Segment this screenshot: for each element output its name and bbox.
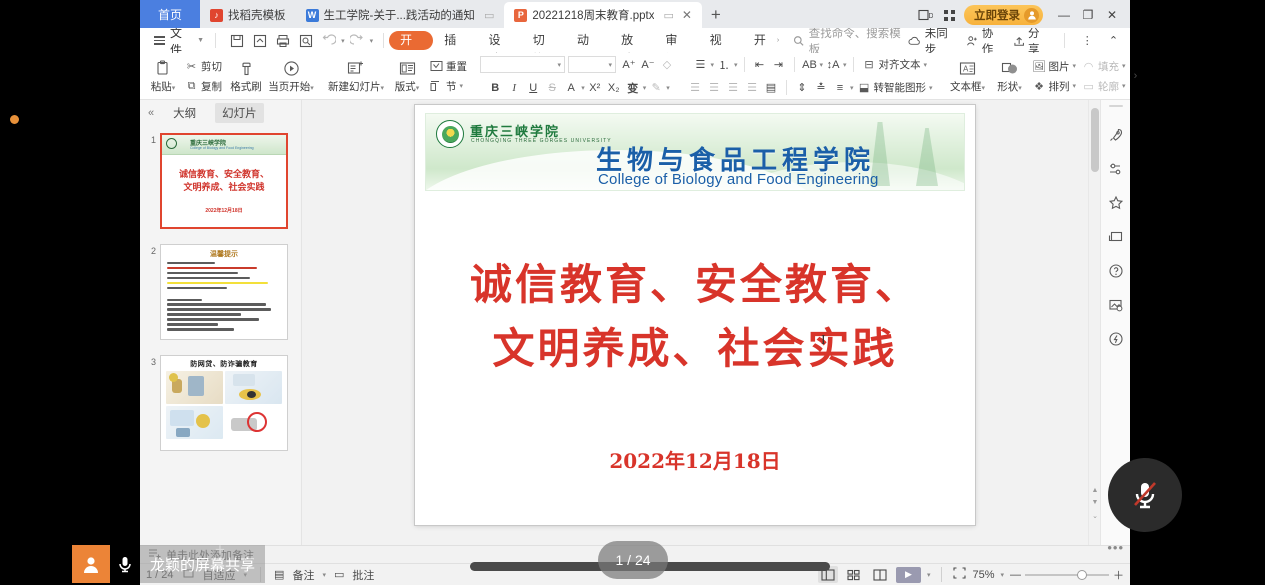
font-row-1: ▾ ▾ A⁺ A⁻ ◇ — [480, 55, 676, 74]
mic-mute-button[interactable] — [1108, 458, 1182, 532]
university-name-en: CHONGQING THREE GORGES UNIVERSITY — [471, 138, 612, 144]
zoom-in-button[interactable]: ＋ — [1113, 567, 1124, 583]
picture-label: 图片 — [1049, 59, 1070, 74]
paragraph-group: ☰ ▾ ⒈ ▾ ⇤ ⇥ AB ▾ ↕A ▾ ⊟ 对齐文本 ▾ — [686, 54, 936, 98]
chevron-down-icon[interactable]: ▾ — [820, 61, 824, 69]
ribbon-tabs: 开始 插入 设计 切换 动画 放映 审阅 视图 开 › — [389, 31, 779, 50]
svg-text:A: A — [963, 64, 969, 73]
rocket-icon[interactable] — [1106, 125, 1126, 145]
paste-icon — [155, 58, 171, 78]
outline-icon: ▭ — [1082, 80, 1095, 93]
bold-icon[interactable]: B — [486, 79, 504, 97]
textbox-icon: A — [959, 58, 976, 78]
slide-thumbnail-list[interactable]: 1 重庆三峡学院 College of Biology and Food Eng… — [140, 126, 301, 545]
tab-developer[interactable]: 开 — [743, 31, 777, 50]
justify-icon[interactable]: ☰ — [743, 79, 761, 97]
screen-share-bar[interactable]: 龙颖的屏幕共享 — [72, 545, 265, 583]
fill-label: 填充 — [1098, 59, 1119, 74]
slide-thumbnail-1[interactable]: 重庆三峡学院 College of Biology and Food Engin… — [160, 133, 288, 229]
scrollbar-thumb[interactable] — [1091, 108, 1099, 172]
slide-title-text[interactable]: 诚信教育、安全教育、 文明养成、社会实践 — [415, 253, 975, 381]
text-direction-icon[interactable]: AB — [801, 56, 819, 74]
image-tools-icon[interactable] — [1106, 295, 1126, 315]
new-tab-button[interactable]: + — [702, 2, 730, 28]
print-icon[interactable] — [272, 31, 293, 50]
cut-copy-stack: ✂ 剪切 ⧉ 复制 — [182, 54, 225, 98]
vertical-text-icon[interactable]: ↕A — [824, 56, 842, 74]
workspace: « 大纲 幻灯片 1 重庆三峡学院 College of Biology and… — [140, 100, 1130, 545]
illustration-no-entry-icon — [225, 406, 282, 439]
quick-access-toolbar: ▾ ▾ — [226, 31, 373, 50]
thumbnail-row[interactable]: 2 温馨提示 — [140, 241, 301, 343]
collapse-panel-icon[interactable]: « — [148, 107, 154, 119]
cut-button[interactable]: ✂ 剪切 — [182, 58, 225, 75]
save-as-icon[interactable] — [249, 31, 270, 50]
sync-status-label: 未同步 — [925, 25, 958, 57]
current-slide[interactable]: 重庆三峡学院 CHONGQING THREE GORGES UNIVERSITY… — [415, 105, 975, 525]
decrease-font-size-icon[interactable]: A⁻ — [639, 56, 657, 74]
tab-presentation[interactable]: P 20221218周末教育.pptx ▭ ✕ — [504, 2, 702, 28]
reset-label: 重置 — [446, 59, 467, 74]
fill-outline-stack: ◠ 填充 ▾ ▭ 轮廓 ▾ — [1079, 54, 1129, 98]
status-right: ▶ ▾ 75% ▾ — ＋ — [818, 566, 1124, 583]
slide-panel: « 大纲 幻灯片 1 重庆三峡学院 College of Biology and… — [140, 100, 302, 545]
thumb2-title: 温馨提示 — [161, 249, 287, 259]
screen-root: 首页 ♪ 找稻壳模板 W 生工学院-关于...践活动的通知 ▭ P 202212… — [0, 0, 1265, 585]
tab-monitor-icon: ▭ — [484, 9, 494, 22]
arrange-button[interactable]: ❖ 排列 ▾ — [1030, 78, 1080, 95]
scroll-page-icon[interactable]: ⌄ — [1091, 512, 1099, 520]
chevron-down-icon[interactable]: ▾ — [581, 84, 585, 92]
underline-icon[interactable]: U — [524, 79, 542, 97]
wps-window: 首页 ♪ 找稻壳模板 W 生工学院-关于...践活动的通知 ▭ P 202212… — [140, 0, 1130, 585]
menu-bar: 文件 ▼ ▾ — [140, 28, 1130, 53]
shape-label: 形状▾ — [997, 79, 1022, 94]
thumbnail-row[interactable]: 1 重庆三峡学院 College of Biology and Food Eng… — [140, 130, 301, 232]
character-style-icon[interactable]: 变 — [624, 79, 642, 97]
shape-icon — [1001, 58, 1019, 78]
help-icon[interactable] — [1106, 261, 1126, 281]
minimize-button[interactable]: — — [1053, 5, 1075, 25]
share-button[interactable]: 分享 — [1013, 25, 1050, 57]
divider — [853, 57, 854, 72]
paste-label: 粘贴▾ — [151, 79, 176, 94]
paragraph-row-1: ☰ ▾ ⒈ ▾ ⇤ ⇥ AB ▾ ↕A ▾ ⊟ 对齐文本 ▾ — [691, 55, 930, 74]
illustration-computer-icon — [166, 406, 223, 439]
dual-screen-icon[interactable]: D — [916, 7, 934, 23]
screen-share-icon[interactable] — [1106, 227, 1126, 247]
chevron-down-icon[interactable]: ▾ — [341, 37, 345, 45]
illustration-loan-icon — [166, 371, 223, 404]
to-smartart-label: 转智能图形 — [874, 80, 927, 95]
divider — [744, 57, 745, 72]
window-controls: — ❐ ✕ — [1053, 5, 1123, 25]
strikethrough-icon[interactable]: S — [543, 79, 561, 97]
reset-button[interactable]: 重置 — [427, 58, 470, 75]
tab-bar-right: D 立即登录 — ❐ ✕ — [916, 5, 1130, 28]
reading-view-icon[interactable] — [870, 566, 890, 583]
tab-design[interactable]: 设计 — [478, 31, 522, 50]
slide-title-line-1: 诚信教育、安全教育、 — [415, 253, 975, 317]
svg-text:D: D — [928, 13, 933, 20]
clear-format-icon[interactable]: ◇ — [658, 56, 676, 74]
collaborate-button[interactable]: 协作 — [966, 25, 1003, 57]
outline-button[interactable]: ▭ 轮廓 ▾ — [1079, 78, 1129, 95]
line-spacing-icon[interactable]: ≡ — [831, 79, 849, 97]
slide-title-line-2: 文明养成、社会实践 — [415, 317, 975, 381]
share-label: 分享 — [1028, 25, 1050, 57]
grid-apps-icon[interactable] — [940, 7, 958, 23]
chevron-down-icon[interactable]: ▾ — [927, 571, 931, 579]
thumb3-images — [161, 369, 287, 441]
slide-thumbnail-2[interactable]: 温馨提示 — [160, 244, 288, 340]
align-center-icon[interactable]: ☰ — [705, 79, 723, 97]
slide-number: 2 — [144, 244, 156, 256]
zoom-level-label[interactable]: 75% — [972, 569, 994, 581]
paragraph-row-2: ☰ ☰ ☰ ☰ ▤ ⇕ ≛ ≡ ▾ ⬓ 转智能图形 ▾ — [686, 78, 936, 97]
chevron-down-icon: ▾ — [608, 61, 612, 69]
search-icon — [793, 35, 805, 47]
chevron-down-icon[interactable]: ▾ — [322, 571, 326, 579]
comment-icon[interactable]: ▭ — [334, 568, 344, 581]
slides-group: 新建幻灯片▾ 版式▾ 重置 — [325, 54, 470, 98]
align-left-icon[interactable]: ☰ — [686, 79, 704, 97]
to-smartart-button[interactable]: ⬓ 转智能图形 ▾ — [855, 79, 936, 96]
chevron-right-icon[interactable]: › — [777, 37, 779, 44]
fill-button[interactable]: ◠ 填充 ▾ — [1079, 58, 1129, 75]
collapse-ribbon-icon[interactable]: ⌃ — [1105, 32, 1122, 50]
smartart-icon: ⬓ — [858, 81, 871, 94]
tab-bar: 首页 ♪ 找稻壳模板 W 生工学院-关于...践活动的通知 ▭ P 202212… — [140, 0, 1130, 28]
reset-section-stack: 重置 节 ▾ — [427, 54, 470, 98]
font-family-select[interactable]: ▾ — [480, 56, 565, 73]
slide-number: 1 — [144, 133, 156, 145]
writer-icon: W — [306, 9, 319, 22]
avatar — [1024, 8, 1039, 23]
page-indicator-pill: 1 / 24 — [598, 541, 668, 579]
rail-grip — [1109, 105, 1123, 107]
scroll-up-icon[interactable]: ▲ — [1091, 486, 1099, 494]
zoom-track[interactable] — [1025, 574, 1109, 576]
scissors-icon: ✂ — [185, 60, 198, 73]
university-logo-icon — [436, 120, 464, 148]
superscript-icon[interactable]: X² — [586, 79, 604, 97]
hamburger-icon — [154, 36, 165, 45]
tab-presentation-label: 20221218周末教育.pptx — [532, 7, 654, 23]
section-button[interactable]: 节 ▾ — [427, 78, 470, 95]
collaborate-icon — [966, 35, 978, 47]
italic-icon[interactable]: I — [505, 79, 523, 97]
idea-lightbulb-icon[interactable] — [1106, 329, 1126, 349]
undo-icon[interactable] — [318, 31, 339, 50]
chevron-down-icon[interactable]: ▾ — [1000, 571, 1004, 579]
shape-button[interactable]: 形状▾ — [990, 54, 1030, 98]
tab-review[interactable]: 审阅 — [654, 31, 698, 50]
slide-date-text[interactable]: 2022年12月18日 — [415, 445, 975, 474]
fill-icon: ◠ — [1082, 60, 1095, 73]
tab-animation[interactable]: 动画 — [566, 31, 610, 50]
tab-template-label: 找稻壳模板 — [228, 7, 286, 23]
mic-icon[interactable] — [110, 545, 140, 583]
insert-group: A 文本框▾ 形状▾ 🖼 图片 ▾ — [946, 54, 1129, 98]
collaborate-label: 协作 — [982, 25, 1004, 57]
align-text-button[interactable]: ⊟ 对齐文本 ▾ — [860, 56, 931, 73]
screen-share-label: 龙颖的屏幕共享 — [140, 545, 265, 583]
picture-button[interactable]: 🖼 图片 ▾ — [1030, 58, 1080, 75]
template-icon: ♪ — [210, 9, 223, 22]
format-painter-icon — [239, 58, 254, 78]
distribute-icon[interactable]: ▤ — [762, 79, 780, 97]
cloud-sync-icon — [908, 35, 921, 47]
new-slide-icon — [347, 58, 365, 78]
outline-label: 轮廓 — [1098, 79, 1119, 94]
maximize-button[interactable]: ❐ — [1077, 5, 1099, 25]
thumb-date: 2022年12月18日 — [162, 207, 286, 214]
redo-icon[interactable] — [347, 31, 368, 50]
copy-icon: ⧉ — [185, 80, 198, 93]
chevron-down-icon[interactable]: ▾ — [710, 61, 714, 69]
tab-insert[interactable]: 插入 — [433, 31, 477, 50]
divider — [1064, 33, 1065, 48]
divider — [383, 33, 384, 48]
college-name-en: College of Biology and Food Engineering — [598, 171, 879, 188]
align-text-icon: ⊟ — [863, 58, 876, 71]
thumb3-title: 防网贷、防诈骗教育 — [161, 359, 287, 369]
arrange-label: 排列 — [1049, 79, 1070, 94]
notes-toggle-label[interactable]: 备注 — [292, 567, 314, 583]
thumb-title: 诚信教育、安全教育、 文明养成、社会实践 — [162, 168, 286, 194]
paste-button[interactable]: 粘贴▾ — [144, 54, 182, 98]
slide-thumbnail-3[interactable]: 防网贷、防诈骗教育 — [160, 355, 288, 451]
thumbnail-row[interactable]: 3 防网贷、防诈骗教育 — [140, 352, 301, 454]
tab-home-label: 首页 — [158, 6, 182, 23]
bullet-list-icon[interactable]: ☰ — [691, 56, 709, 74]
slide-sorter-icon[interactable] — [844, 566, 864, 583]
format-painter-button[interactable]: 格式刷 — [225, 54, 267, 98]
rail-more-icon[interactable]: ••• — [1107, 540, 1124, 555]
share-icon — [1013, 35, 1025, 47]
format-painter-label: 格式刷 — [230, 79, 262, 94]
plus-marker-icon: + — [215, 540, 225, 560]
illustration-fraud-icon — [225, 371, 282, 404]
thumb-college-en: College of Biology and Food Engineering — [190, 146, 254, 150]
divider — [215, 33, 216, 48]
font-color-icon[interactable]: A — [562, 79, 580, 97]
arrange-icon: ❖ — [1033, 80, 1046, 93]
section-icon — [430, 80, 443, 92]
close-window-button[interactable]: ✕ — [1101, 5, 1123, 25]
sync-status[interactable]: 未同步 — [908, 25, 957, 57]
paragraph-spacing-icon[interactable]: ⇕ — [793, 79, 811, 97]
ribbon-overflow-icon[interactable]: › — [1134, 67, 1138, 85]
play-circle-icon — [283, 58, 300, 78]
decrease-indent-icon[interactable]: ⇤ — [751, 56, 769, 74]
save-icon[interactable] — [226, 31, 247, 50]
scroll-down-icon[interactable]: ▼ — [1091, 498, 1099, 506]
print-preview-icon[interactable] — [295, 31, 316, 50]
avatar — [72, 545, 110, 583]
clipboard-group: 粘贴▾ ✂ 剪切 ⧉ 复制 格式刷 — [144, 54, 315, 98]
increase-indent-icon[interactable]: ⇥ — [770, 56, 788, 74]
mic-muted-icon — [1125, 475, 1165, 515]
chevron-down-icon: ▼ — [197, 37, 204, 44]
highlight-icon[interactable]: ✎ — [647, 79, 665, 97]
layout-button[interactable]: 版式▾ — [387, 54, 427, 98]
align-right-icon[interactable]: ☰ — [724, 79, 742, 97]
chevron-down-icon[interactable]: ▾ — [843, 61, 847, 69]
cut-label: 剪切 — [201, 59, 222, 74]
more-options-icon[interactable]: ⋮ — [1079, 32, 1096, 50]
divider — [794, 57, 795, 72]
chevron-down-icon[interactable]: ▾ — [666, 84, 670, 92]
textbox-label: 文本框▾ — [950, 79, 985, 94]
close-icon[interactable]: ✕ — [682, 8, 692, 22]
search-command-box[interactable]: 查找命令、搜索模板 — [793, 25, 908, 57]
university-logo-icon — [166, 138, 177, 149]
text-cursor-icon: I — [821, 333, 822, 348]
font-size-select[interactable]: ▾ — [568, 56, 616, 73]
tab-writer-doc-label: 生工学院-关于...践活动的通知 — [324, 7, 475, 23]
layout-label: 版式▾ — [395, 79, 420, 94]
zoom-knob[interactable] — [1077, 570, 1087, 580]
tab-monitor-icon: ▭ — [663, 9, 673, 22]
tab-start[interactable]: 开始 — [389, 31, 433, 50]
canvas-vertical-scrollbar[interactable]: ▲ ▼ ⌄ — [1088, 100, 1100, 545]
reset-icon — [430, 60, 443, 72]
copy-label: 复制 — [201, 79, 222, 94]
new-slide-button[interactable]: 新建幻灯片▾ — [325, 54, 387, 98]
sliders-icon[interactable] — [1106, 159, 1126, 179]
numbered-list-icon[interactable]: ⒈ — [715, 56, 733, 74]
tab-home[interactable]: 首页 — [140, 0, 200, 28]
slide-canvas[interactable]: 重庆三峡学院 CHONGQING THREE GORGES UNIVERSITY… — [302, 100, 1088, 545]
zoom-slider[interactable]: — ＋ — [1010, 567, 1124, 583]
section-label: 节 — [446, 79, 457, 94]
tab-view[interactable]: 视图 — [699, 31, 743, 50]
slide-wrapper: 重庆三峡学院 CHONGQING THREE GORGES UNIVERSITY… — [415, 105, 975, 525]
ribbon-toolbar: 粘贴▾ ✂ 剪切 ⧉ 复制 格式刷 — [140, 53, 1130, 100]
start-slideshow-button[interactable]: ▶ — [896, 567, 921, 583]
font-group: ▾ ▾ A⁺ A⁻ ◇ B I U S A ▾ — [480, 54, 676, 98]
search-placeholder: 查找命令、搜索模板 — [809, 25, 909, 57]
presentation-icon: P — [514, 9, 527, 22]
tab-writer-doc[interactable]: W 生工学院-关于...践活动的通知 ▭ — [296, 2, 505, 28]
comment-label[interactable]: 批注 — [352, 567, 374, 583]
align-text-label: 对齐文本 — [879, 57, 921, 72]
picture-arrange-stack: 🖼 图片 ▾ ❖ 排列 ▾ — [1030, 54, 1080, 98]
picture-icon: 🖼 — [1033, 60, 1046, 73]
textbox-button[interactable]: A 文本框▾ — [946, 54, 990, 98]
divider — [941, 567, 942, 582]
thumb-banner: 重庆三峡学院 College of Biology and Food Engin… — [162, 135, 286, 155]
chevron-down-icon[interactable]: ▾ — [643, 84, 647, 92]
chevron-down-icon[interactable]: ▾ — [734, 61, 738, 69]
divider — [786, 80, 787, 95]
slide-panel-header: « 大纲 幻灯片 — [140, 100, 301, 126]
start-from-here-label: 当页开始▾ — [268, 79, 314, 94]
tab-slideshow[interactable]: 放映 — [610, 31, 654, 50]
thumb2-bullets — [161, 259, 287, 331]
recording-indicator-dot — [10, 115, 19, 124]
customize-qat-icon[interactable]: ▾ — [370, 37, 374, 45]
notes-toggle-icon[interactable]: ▤ — [274, 568, 284, 581]
layout-icon — [399, 58, 416, 78]
login-button[interactable]: 立即登录 — [964, 5, 1043, 25]
slide-header-banner: 重庆三峡学院 CHONGQING THREE GORGES UNIVERSITY… — [425, 113, 965, 191]
tab-transition[interactable]: 切换 — [522, 31, 566, 50]
copy-button[interactable]: ⧉ 复制 — [182, 78, 225, 95]
fit-to-window-icon[interactable] — [953, 567, 966, 582]
font-row-2: B I U S A ▾ X² X₂ 变 ▾ ✎ ▾ — [486, 78, 670, 97]
login-button-label: 立即登录 — [974, 7, 1020, 23]
increase-font-size-icon[interactable]: A⁺ — [620, 56, 638, 74]
line-spacing-before-icon[interactable]: ≛ — [812, 79, 830, 97]
slide-number: 3 — [144, 355, 156, 367]
tab-outline[interactable]: 大纲 — [166, 103, 203, 123]
start-from-here-button[interactable]: 当页开始▾ — [267, 54, 315, 98]
star-ai-icon[interactable] — [1106, 193, 1126, 213]
chevron-down-icon: ▾ — [557, 61, 561, 69]
subscript-icon[interactable]: X₂ — [605, 79, 623, 97]
tab-slides[interactable]: 幻灯片 — [215, 103, 264, 123]
chevron-down-icon[interactable]: ▾ — [850, 84, 854, 92]
tower-graphic — [916, 128, 938, 186]
tab-template[interactable]: ♪ 找稻壳模板 — [200, 2, 296, 28]
new-slide-label: 新建幻灯片▾ — [328, 79, 384, 94]
zoom-out-button[interactable]: — — [1010, 569, 1021, 581]
menu-bar-right: 未同步 协作 分享 ⋮ ⌃ — [908, 25, 1130, 57]
